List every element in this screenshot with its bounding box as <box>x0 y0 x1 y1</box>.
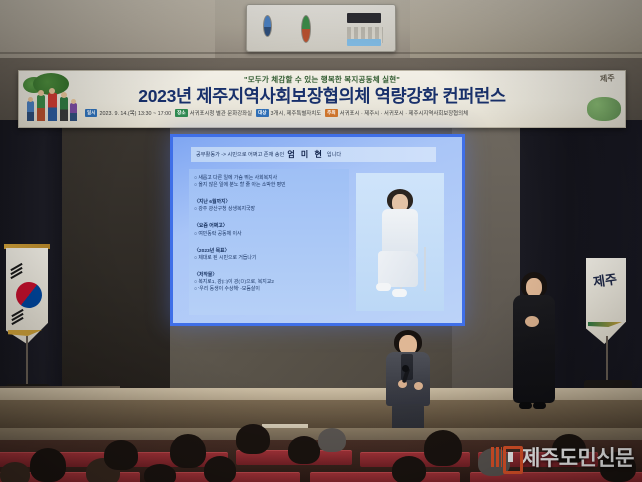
slide-section-2-heading: 〈2023년 목표〉 <box>194 248 344 255</box>
slide-spacer-2 <box>194 213 344 218</box>
banner-chip-host: 주최 <box>325 109 337 117</box>
banner-title: 2023년 제주지역사회보장협의체 역량강화 컨퍼런스 <box>19 83 625 108</box>
slide-title-suffix: 입니다 <box>327 151 341 158</box>
audience-head-15 <box>144 464 176 482</box>
audience-head-9 <box>424 430 462 466</box>
ceiling-panel-right <box>410 0 642 58</box>
audience-head-10 <box>392 456 426 482</box>
slide-section-1-item-0: ○ 여민동락 공동체 이사 <box>194 231 344 238</box>
banner-text-audience: 3개시, 제주특별자치도 <box>271 109 322 117</box>
banner-chip-venue: 장소 <box>175 109 187 117</box>
slide-section-3-item-1: ○ '우리 동생이 수상해' -모둠살이 <box>194 286 344 293</box>
ac-display <box>347 13 381 23</box>
ac-fan-left <box>263 15 272 37</box>
banner-footer: 일시 2023. 9. 14.(목) 13:30 ~ 17:00 장소 서귀포시… <box>85 109 619 117</box>
seat-row-2c <box>310 472 460 482</box>
watermark-text: 제주도민신문 <box>521 442 634 472</box>
jeju-flag-pole <box>606 336 608 384</box>
slide-bullet-1: ○ 옳지 않은 일에 분노 할 줄 아는 소박한 평민 <box>194 182 344 189</box>
portrait-shoe-left <box>376 283 391 291</box>
logo-box-icon <box>503 446 523 474</box>
slide-section-2-item-0: ○ 제대로 된 시민으로 거듭나기 <box>194 255 344 262</box>
slide-section-1-heading: 〈요즘 어쩌고〉 <box>194 223 344 230</box>
audience-head-3 <box>104 440 138 470</box>
ac-fan-right <box>301 15 311 43</box>
banner-footer-item-venue: 장소 서귀포시청 별관 문화강좌실 <box>175 109 252 117</box>
banner-footer-item-audience: 대상 3개시, 제주특별자치도 <box>256 109 321 117</box>
audience-head-1 <box>30 448 66 482</box>
slide-spacer-4 <box>194 262 344 267</box>
banner-text-venue: 서귀포시청 별관 문화강좌실 <box>190 109 253 117</box>
ceiling-seam <box>0 52 642 54</box>
slide-speaker-name: 엄 미 현 <box>287 149 324 160</box>
slide-section-0-item-0: ○ 광주 광산구청 상생복지국장 <box>194 206 344 213</box>
slide-spacer-3 <box>194 238 344 243</box>
speaker1-hand-right <box>414 382 423 390</box>
slide-title-prefix: 공무활동가 -> 시민으로 어쩌고 존재 송인 <box>196 151 284 158</box>
slide-section-3-item-0: ○ 복지로1, 광(□)이 광(ㅁ)으로, 복지교2 <box>194 279 344 286</box>
banner-chip-datetime: 일시 <box>85 109 97 117</box>
projection-screen-inner: 공무활동가 -> 시민으로 어쩌고 존재 송인 엄 미 현 입니다 ○ 새롭고 … <box>173 137 462 323</box>
speaker-applauding <box>505 272 563 424</box>
speaker2-shoe-right <box>533 402 546 409</box>
microphone-head-icon <box>402 365 409 372</box>
banner-footer-item-host: 주최 서귀포시 · 제주시 · 서귀포시 · 제주시지역사회보장협의체 <box>325 109 468 117</box>
speaker2-dress <box>513 295 555 403</box>
logo-bars-icon <box>491 447 502 467</box>
banner-text-host: 서귀포시 · 제주시 · 서귀포시 · 제주시지역사회보장협의체 <box>340 109 468 117</box>
speaker2-clapping-hands <box>525 316 539 327</box>
jeju-domin-logo-icon <box>491 445 517 469</box>
watermark: 제주도민신문 <box>491 442 634 472</box>
slide-section-0-heading: 〈지난 6월까지〉 <box>194 199 344 206</box>
slide-bullet-0: ○ 새롭고 다른 일에 가슴 뛰는 사회복지사 <box>194 175 344 182</box>
slide-section-3-heading: 〈저작물〉 <box>194 272 344 279</box>
audience-head-6 <box>236 424 270 454</box>
ceiling-panel-left <box>0 0 215 58</box>
slide-bullet-panel: ○ 새롭고 다른 일에 가슴 뛰는 사회복지사 ○ 옳지 않은 일에 분노 할 … <box>189 169 349 315</box>
speaker-with-microphone <box>376 330 438 442</box>
projection-screen: 공무활동가 -> 시민으로 어쩌고 존재 송인 엄 미 현 입니다 ○ 새롭고 … <box>170 134 465 326</box>
slide-portrait-photo <box>356 173 444 311</box>
audience-head-4 <box>170 434 206 468</box>
ceiling-air-conditioner-icon <box>246 4 396 52</box>
slide-title-bar: 공무활동가 -> 시민으로 어쩌고 존재 송인 엄 미 현 입니다 <box>191 147 436 162</box>
portrait-legs <box>378 251 418 287</box>
korean-flag-pole <box>26 336 28 388</box>
jeju-flag-emblem: 제주 <box>592 272 619 301</box>
audience-head-7 <box>288 436 320 464</box>
banner-footer-item-datetime: 일시 2023. 9. 14.(목) 13:30 ~ 17:00 <box>85 109 171 117</box>
slide-spacer-1 <box>194 189 344 194</box>
ac-led-strip <box>347 39 381 46</box>
speaker2-shoe-left <box>519 402 532 409</box>
event-banner: 제주 "모두가 체감할 수 있는 행복한 복지공동체 실현" 2023년 제주지… <box>18 70 626 128</box>
portrait-shoe-right <box>392 289 407 297</box>
portrait-torso <box>382 209 418 255</box>
audience-head-5 <box>204 456 236 482</box>
audience-head-14 <box>0 462 30 482</box>
conference-photo-scene: 제주 "모두가 체감할 수 있는 행복한 복지공동체 실현" 2023년 제주지… <box>0 0 642 482</box>
audience-head-8 <box>318 428 346 452</box>
banner-chip-audience: 대상 <box>256 109 268 117</box>
banner-text-datetime: 2023. 9. 14.(목) 13:30 ~ 17:00 <box>99 109 171 117</box>
